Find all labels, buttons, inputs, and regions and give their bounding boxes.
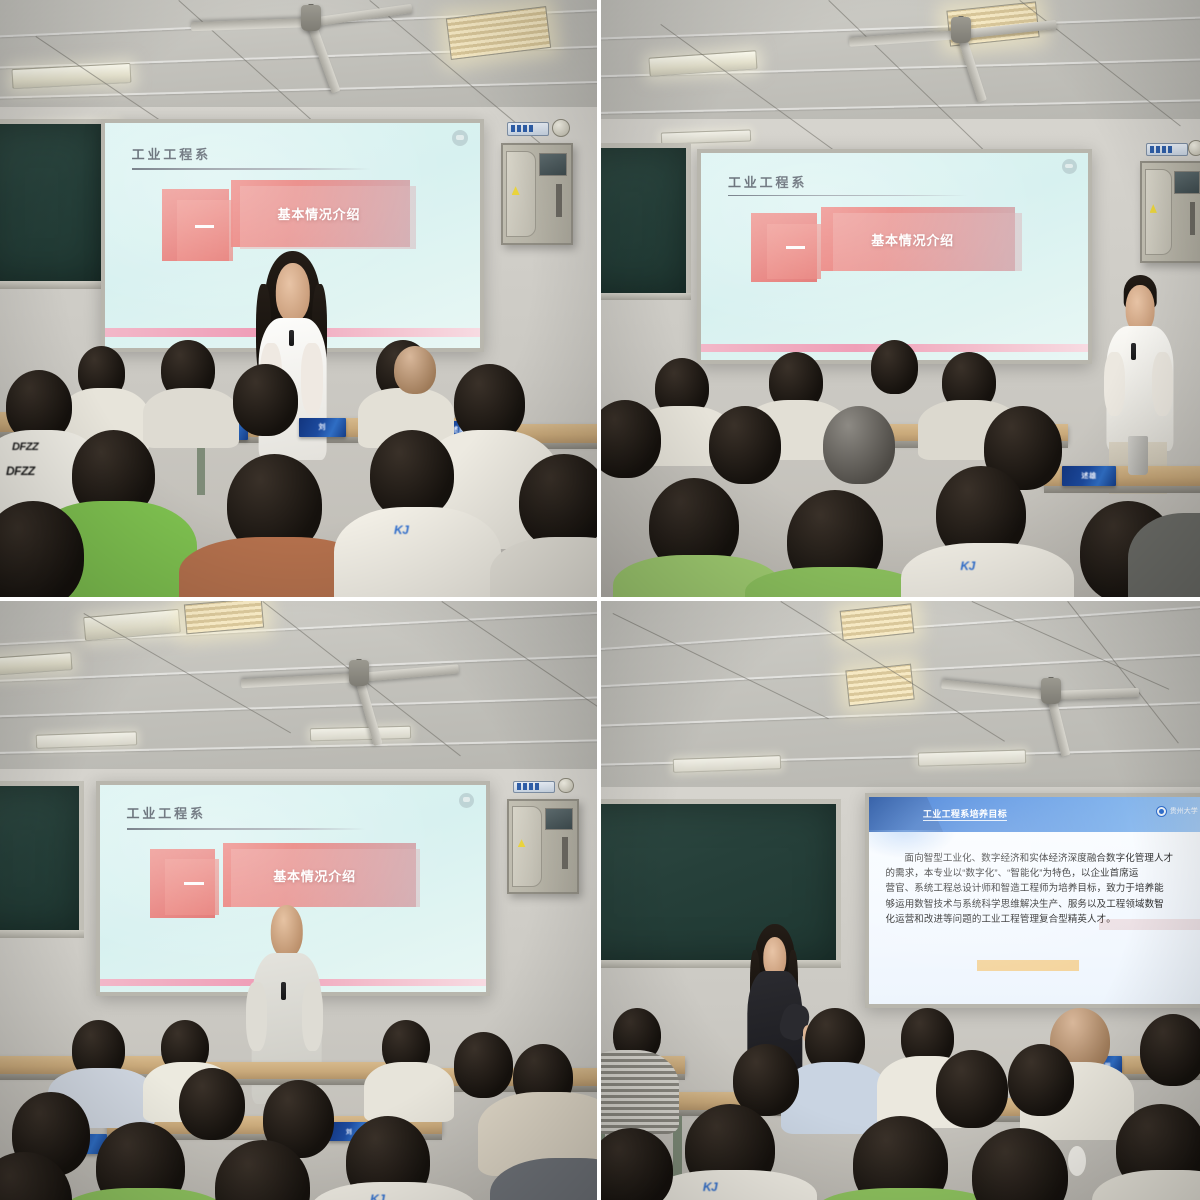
ceiling-fan bbox=[310, 18, 311, 19]
tshirt-logo: DFZZ bbox=[12, 442, 38, 452]
chalk-rail bbox=[0, 281, 107, 289]
wall-sign-plate bbox=[513, 781, 555, 793]
skylight-panel bbox=[845, 664, 914, 707]
tshirt-logo: KJ bbox=[394, 525, 408, 536]
ceiling-light bbox=[310, 725, 412, 741]
panel-bottom-left: 工业工程系 基本情况介绍 bbox=[0, 601, 597, 1200]
slide-basic-intro: 工业工程系 基本情况介绍 bbox=[701, 153, 1088, 360]
tshirt-logo: DFZZ bbox=[6, 466, 35, 477]
slide-header-title: 工业工程系培养目标 bbox=[923, 807, 1007, 821]
slide-body: 面向智型工业化、数字经济和实体经济深度融合数字化管理人才 的需求，本专业以“数字… bbox=[886, 851, 1200, 928]
slide-line: 面向智型工业化、数字经济和实体经济深度融合数字化管理人才 bbox=[886, 851, 1200, 866]
slide-highlight bbox=[977, 960, 1079, 971]
university-logo: 贵州大学 bbox=[1156, 806, 1198, 817]
wall-sign-plate bbox=[507, 122, 549, 135]
wall-sign-plate bbox=[1146, 143, 1188, 156]
microphone bbox=[1131, 343, 1136, 360]
slide-title: 工业工程系 bbox=[127, 803, 206, 822]
audience-head bbox=[454, 1032, 514, 1098]
audience-head bbox=[823, 406, 895, 484]
slide-line: 营官、系统工程总设计师和智造工程师为培养目标，致力于培养能 bbox=[886, 881, 1200, 896]
slide-line: 的需求，本专业以“数字化”、“智能化”为特色，以企业首席运 bbox=[886, 866, 1200, 881]
microphone bbox=[281, 982, 286, 1000]
blackboard bbox=[601, 143, 691, 298]
wall-electrical-cabinet bbox=[1140, 161, 1200, 262]
audience-head bbox=[936, 1050, 1008, 1128]
slide-block-label: 基本情况介绍 bbox=[273, 866, 356, 885]
blackboard bbox=[0, 781, 84, 937]
ceiling-fan bbox=[1050, 691, 1051, 692]
blackboard bbox=[0, 119, 107, 286]
projection-screen: 工业工程系 基本情况介绍 bbox=[697, 149, 1092, 364]
projection-screen: 工业工程系培养目标 贵州大学 面向智型工业化、数字经济和实体经济深度融合数字化管… bbox=[865, 793, 1200, 1009]
tshirt-logo: KJ bbox=[960, 561, 974, 572]
tshirt-logo: KJ bbox=[370, 1194, 384, 1200]
chalk-rail bbox=[601, 293, 691, 301]
panel-top-left: 工业工程系 基本情况介绍 bbox=[0, 0, 597, 597]
audience-head bbox=[233, 364, 299, 436]
slide-watermark-icon bbox=[452, 130, 468, 146]
slide-title: 工业工程系 bbox=[728, 172, 807, 191]
ceiling-fan bbox=[358, 673, 359, 674]
audience-head bbox=[871, 340, 919, 394]
audience-head bbox=[179, 1068, 245, 1140]
slide-block-label: 基本情况介绍 bbox=[278, 204, 361, 223]
chalk-rail bbox=[0, 930, 84, 938]
panel-bottom-right: 工业工程系培养目标 贵州大学 面向智型工业化、数字经济和实体经济深度融合数字化管… bbox=[601, 601, 1200, 1200]
wall-seal-icon bbox=[558, 778, 574, 794]
audience-head bbox=[370, 430, 454, 520]
ceiling-fan bbox=[960, 30, 961, 31]
nameplate: 刘 bbox=[299, 418, 347, 437]
audience-head bbox=[394, 346, 436, 394]
audience-head bbox=[519, 454, 597, 550]
cup bbox=[1128, 436, 1148, 475]
wall-electrical-cabinet bbox=[501, 143, 573, 244]
slide-training-goals: 工业工程系培养目标 贵州大学 面向智型工业化、数字经济和实体经济深度融合数字化管… bbox=[869, 797, 1200, 1005]
tshirt-logo: KJ bbox=[703, 1182, 717, 1193]
wall-electrical-cabinet bbox=[507, 799, 579, 895]
panel-top-right: 工业工程系 基本情况介绍 bbox=[601, 0, 1200, 597]
wall-seal-icon bbox=[1188, 140, 1200, 156]
microphone bbox=[289, 330, 294, 346]
nameplate: 述雄 bbox=[1062, 466, 1116, 486]
university-logo-text: 贵州大学 bbox=[1170, 806, 1198, 816]
audience-head bbox=[1140, 1014, 1200, 1086]
slide-title: 工业工程系 bbox=[132, 144, 211, 163]
slide-line: 够运用数智技术与系统科学思维解决生产、服务以及工程领域数智 bbox=[886, 897, 1200, 912]
slide-watermark-icon bbox=[459, 793, 474, 808]
photo-collage: 工业工程系 基本情况介绍 bbox=[0, 0, 1200, 1200]
audience-head bbox=[709, 406, 781, 484]
slide-block-label: 基本情况介绍 bbox=[871, 230, 954, 249]
audience-head bbox=[1008, 1044, 1074, 1116]
slide-watermark-icon bbox=[1062, 159, 1077, 174]
